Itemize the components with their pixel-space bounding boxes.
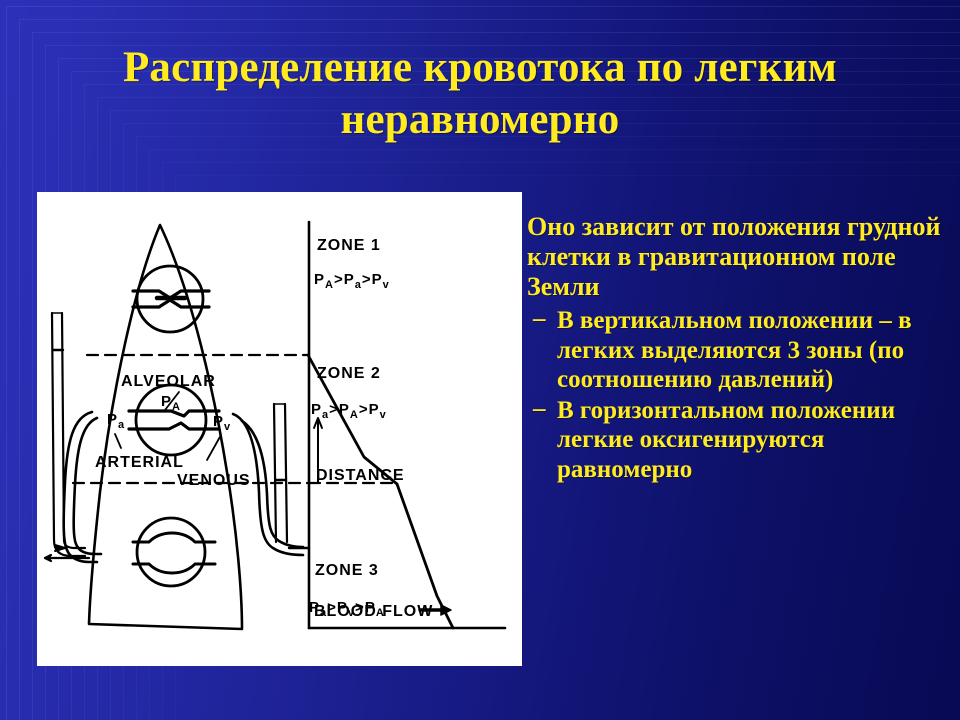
bullet-dash-icon: – bbox=[533, 304, 546, 333]
venous-label: VENOUS bbox=[177, 472, 251, 489]
list-item: – В вертикальном положении – в легких вы… bbox=[527, 306, 947, 394]
bullet-list: – В вертикальном положении – в легких вы… bbox=[527, 306, 947, 484]
slide: Распределение кровотока по легким неравн… bbox=[0, 0, 960, 720]
zone1-name: ZONE 1 bbox=[317, 237, 381, 254]
list-item-label: В горизонтальном положении легкие оксиге… bbox=[557, 397, 895, 483]
body-lead-text: Оно зависит от положения грудной клетки … bbox=[527, 212, 947, 302]
arterial-label: ARTERIAL bbox=[95, 454, 184, 471]
list-item-label: В вертикальном положении – в легких выде… bbox=[557, 307, 912, 393]
zone3-name: ZONE 3 bbox=[315, 562, 379, 579]
zone2-name: ZONE 2 bbox=[317, 365, 381, 382]
page-title: Распределение кровотока по легким неравн… bbox=[60, 42, 900, 147]
bullet-dash-icon: – bbox=[533, 394, 546, 423]
list-item: – В горизонтальном положении легкие окси… bbox=[527, 396, 947, 484]
alveolar-label: ALVEOLAR bbox=[121, 373, 216, 390]
lung-zones-svg: ZONE 1 PA>Pa>Pv ZONE 2 Pa>PA>Pv ZONE 3 bbox=[37, 192, 522, 666]
blood-flow-axis-label: BLOOD FLOW bbox=[314, 603, 433, 620]
distance-axis-label: DISTANCE bbox=[316, 467, 405, 484]
lung-zones-figure: ZONE 1 PA>Pa>Pv ZONE 2 Pa>PA>Pv ZONE 3 bbox=[37, 192, 522, 666]
slide-body: Оно зависит от положения грудной клетки … bbox=[527, 212, 947, 486]
